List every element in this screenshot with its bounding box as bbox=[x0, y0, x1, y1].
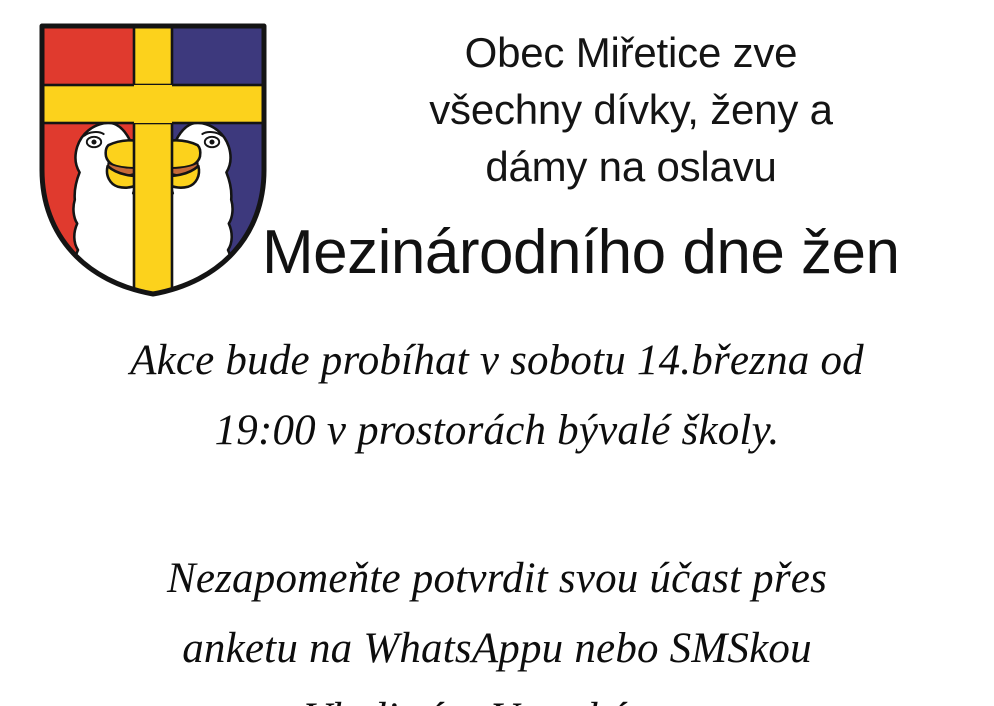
invitation-line-2: všechny dívky, ženy a bbox=[286, 81, 976, 138]
poster-canvas: Obec Miřetice zve všechny dívky, ženy a … bbox=[0, 0, 994, 706]
details-line-2: 19:00 v prostorách bývalé školy. bbox=[0, 396, 994, 466]
invitation-line-3: dámy na oslavu bbox=[286, 138, 976, 195]
cross-center bbox=[134, 85, 172, 123]
details-line-1: Akce bude probíhat v sobotu 14.března od bbox=[0, 326, 994, 396]
details-paragraph-rsvp: Nezapomeňte potvrdit svou účast přes ank… bbox=[0, 544, 994, 706]
paragraph-spacer bbox=[0, 466, 994, 544]
invitation-header: Obec Miřetice zve všechny dívky, ženy a … bbox=[286, 24, 976, 195]
invitation-line-1: Obec Miřetice zve bbox=[286, 24, 976, 81]
page-title: Mezinárodního dne žen bbox=[0, 213, 994, 293]
details-paragraph-when: Akce bude probíhat v sobotu 14.března od… bbox=[0, 326, 994, 466]
details-line-5: Vladimíru Veseckému. bbox=[0, 684, 994, 706]
event-details: Akce bude probíhat v sobotu 14.března od… bbox=[0, 326, 994, 706]
details-line-3: Nezapomeňte potvrdit svou účast přes bbox=[0, 544, 994, 614]
details-line-4: anketu na WhatsAppu nebo SMSkou bbox=[0, 614, 994, 684]
